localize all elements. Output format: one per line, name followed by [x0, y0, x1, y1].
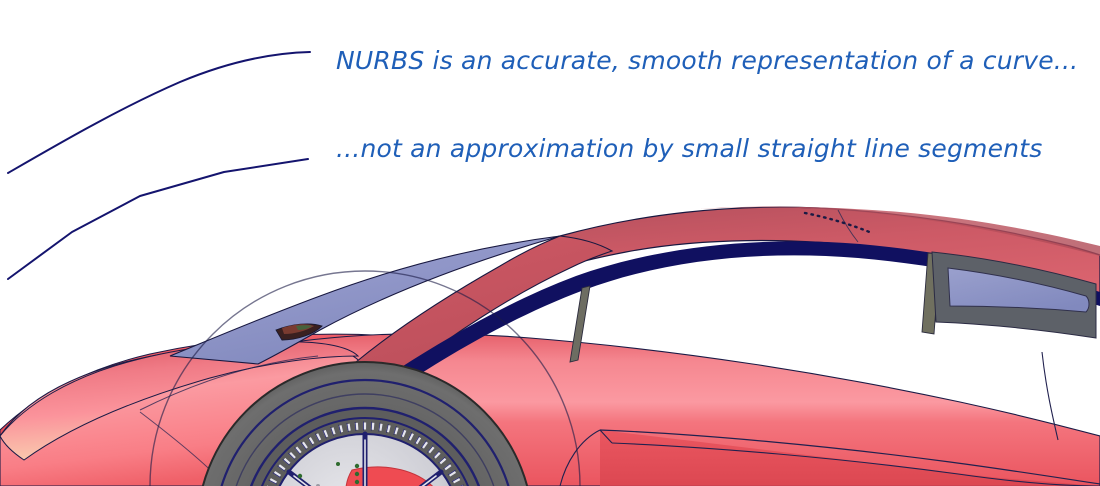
car-illustration	[0, 207, 1100, 486]
callout-text-line-2: ...not an approximation by small straigh…	[336, 136, 1042, 161]
nurbs-curve-group	[8, 52, 310, 279]
polyline-approximation-curve	[8, 159, 308, 279]
callout-text-line-1: NURBS is an accurate, smooth representat…	[336, 48, 1078, 73]
smooth-nurbs-curve	[8, 52, 310, 173]
illustration-canvas: NURBS is an accurate, smooth representat…	[0, 0, 1100, 486]
